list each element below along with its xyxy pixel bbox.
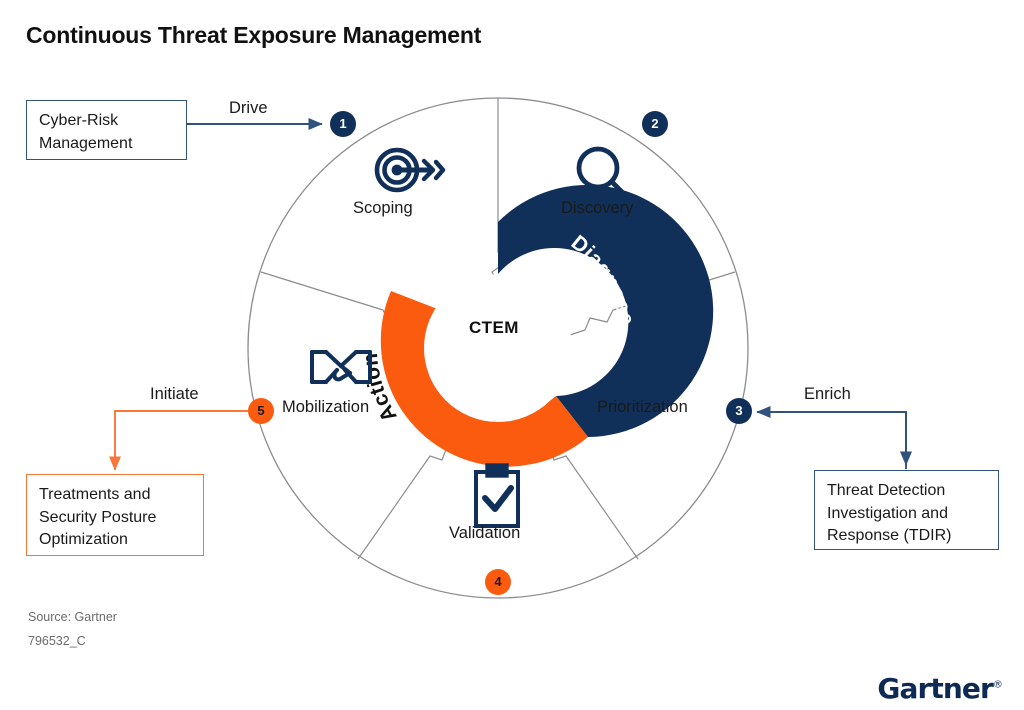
segment-label-discovery: Discovery — [561, 199, 633, 218]
registered-mark-icon: ® — [993, 680, 1002, 691]
gartner-logo: Gartner® — [877, 672, 1002, 705]
source-note: Source: Gartner — [28, 610, 117, 624]
box-treatments-security-posture[interactable]: Treatments and Security Posture Optimiza… — [26, 474, 204, 556]
box-line: Treatments and — [39, 484, 192, 507]
badge-1[interactable] — [330, 111, 356, 137]
connector-enrich — [757, 412, 906, 469]
box-line: Response (TDIR) — [827, 525, 987, 548]
box-line: Optimization — [39, 529, 192, 552]
segment-label-validation: Validation — [449, 524, 520, 543]
document-id: 796532_C — [28, 634, 86, 648]
box-line: Threat Detection — [827, 480, 987, 503]
connector-label-drive: Drive — [229, 99, 268, 118]
center-donut — [381, 185, 713, 467]
badge-4[interactable] — [485, 569, 511, 595]
gartner-logo-text: Gartner — [877, 672, 993, 705]
clipboard-check-icon — [476, 465, 518, 526]
badge-3[interactable] — [726, 398, 752, 424]
segment-label-scoping: Scoping — [353, 199, 413, 218]
segment-label-mobilization: Mobilization — [282, 398, 369, 417]
connector-initiate — [115, 411, 248, 470]
badge-2[interactable] — [642, 111, 668, 137]
badge-5[interactable] — [248, 398, 274, 424]
box-cyber-risk-management[interactable]: Cyber-Risk Management — [26, 100, 187, 160]
segment-label-prioritization: Prioritization — [597, 398, 688, 417]
connector-label-initiate: Initiate — [150, 385, 199, 404]
box-line: Management — [39, 133, 175, 156]
box-tdir[interactable]: Threat Detection Investigation and Respo… — [814, 470, 999, 550]
ctem-center-label: CTEM — [469, 318, 519, 338]
target-icon — [377, 150, 443, 190]
box-line: Investigation and — [827, 503, 987, 526]
connector-label-enrich: Enrich — [804, 385, 851, 404]
box-line: Security Posture — [39, 507, 192, 530]
box-line: Cyber-Risk — [39, 110, 175, 133]
